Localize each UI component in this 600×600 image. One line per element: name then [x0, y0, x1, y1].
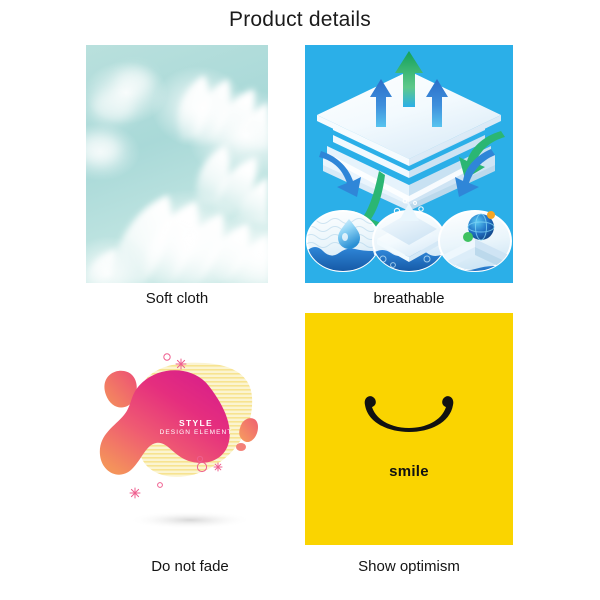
feature-card-breathable[interactable]: breathable	[305, 45, 513, 313]
feature-caption-do-not-fade: Do not fade	[86, 558, 294, 575]
antibacterial-globe-icon	[439, 211, 513, 281]
water-droplet-repel-icon	[305, 211, 381, 275]
smile-icon	[305, 313, 513, 545]
product-details-page: Product details	[0, 0, 600, 600]
vapor-release-layers-icon	[373, 199, 445, 275]
feature-caption-soft-cloth: Soft cloth	[86, 290, 268, 307]
abstract-blob-icon	[86, 313, 294, 545]
feature-card-do-not-fade[interactable]: STYLE DESIGN ELEMENT Do not fade	[86, 313, 294, 585]
page-title: Product details	[0, 8, 600, 32]
feature-caption-breathable: breathable	[305, 290, 513, 307]
smile-word: smile	[305, 463, 513, 480]
fluid-gradient-blob-graphic: STYLE DESIGN ELEMENT	[86, 313, 294, 545]
feature-card-soft-cloth[interactable]: Soft cloth	[86, 45, 268, 313]
feather-shapes-icon	[86, 45, 268, 283]
smile-graphic: smile	[305, 313, 513, 545]
feature-card-show-optimism[interactable]: smile Show optimism	[305, 313, 513, 585]
feature-caption-show-optimism: Show optimism	[305, 558, 513, 575]
fabric-layers-airflow-icon	[305, 45, 513, 283]
breathable-fabric-diagram	[305, 45, 513, 283]
feather-photo	[86, 45, 268, 283]
